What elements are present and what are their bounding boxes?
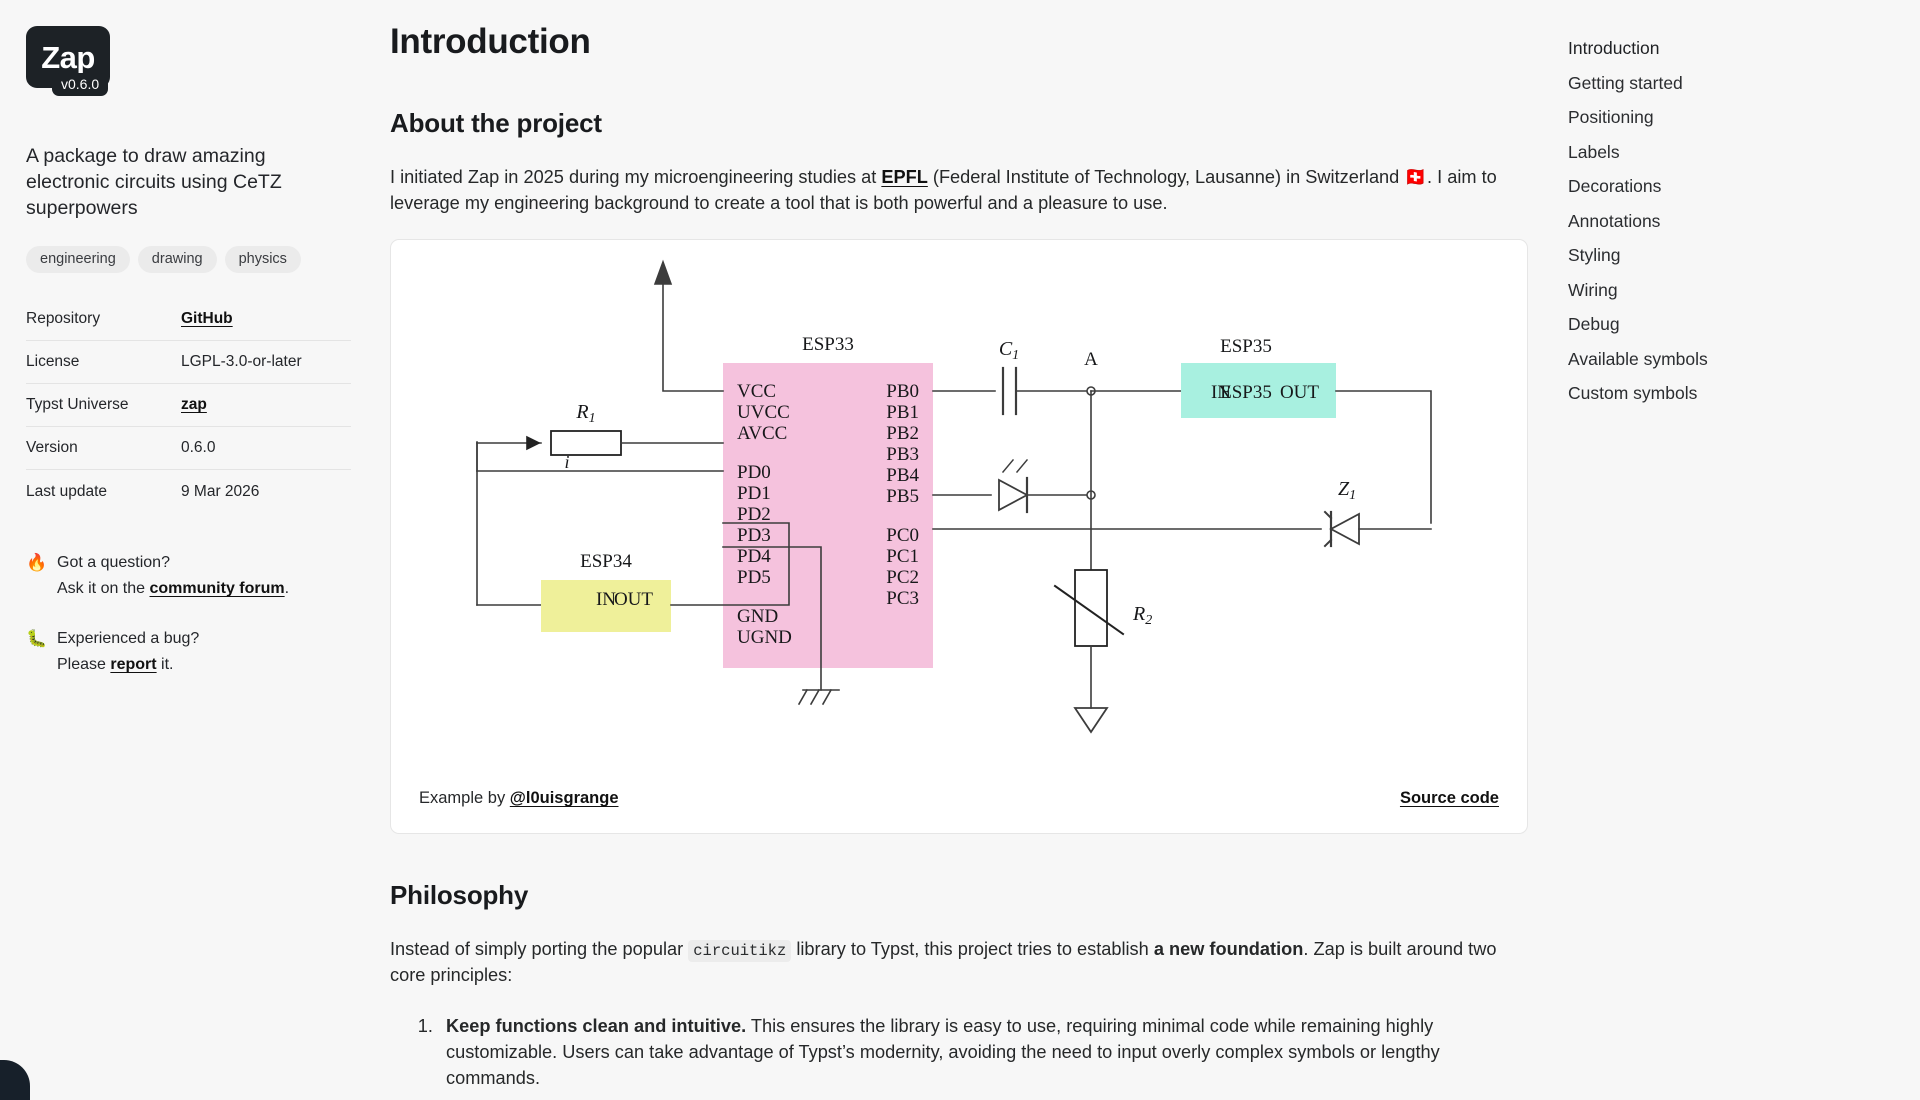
pin-gnd: GND — [737, 606, 778, 627]
table-row: Typst Universe zap — [26, 384, 351, 427]
tag-drawing[interactable]: drawing — [138, 246, 217, 274]
component-label-z1: Z1 — [1338, 478, 1356, 503]
node-label-a: A — [1084, 349, 1098, 370]
about-paragraph: I initiated Zap in 2025 during my microe… — [390, 165, 1525, 217]
page-root: Zap v0.6.0 A package to draw amazing ele… — [0, 0, 1920, 1100]
about-text-b: (Federal Institute of Technology, Lausan… — [928, 167, 1405, 187]
help-question: 🔥 Got a question? Ask it on the communit… — [26, 551, 360, 600]
help-bug-line: Please report it. — [57, 653, 199, 676]
epfl-link[interactable]: EPFL — [881, 167, 927, 187]
esp35-out-label: OUT — [1280, 382, 1319, 403]
component-label-c1: C1 — [999, 338, 1019, 363]
meta-key-last-update: Last update — [26, 483, 181, 501]
help-question-text: Got a question? Ask it on the community … — [57, 551, 289, 600]
table-row: Last update 9 Mar 2026 — [26, 470, 351, 513]
pin-avcc: AVCC — [737, 423, 787, 444]
bug-icon: 🐛 — [26, 627, 43, 676]
block-label-esp33: ESP33 — [802, 334, 854, 355]
toc-item-getting-started[interactable]: Getting started — [1568, 67, 1898, 102]
esp35-in-label: IN — [1211, 382, 1231, 403]
section-about: About the project I initiated Zap in 202… — [390, 108, 1540, 834]
help-pre: Ask it on the — [57, 580, 150, 597]
toc-item-custom-symbols[interactable]: Custom symbols — [1568, 377, 1898, 412]
pin-pd5: PD5 — [737, 567, 771, 588]
help-question-line: Ask it on the community forum. — [57, 577, 289, 600]
toc-item-annotations[interactable]: Annotations — [1568, 205, 1898, 240]
help-bug: 🐛 Experienced a bug? Please report it. — [26, 627, 360, 676]
principle-1-title: Keep functions clean and intuitive. — [446, 1016, 746, 1036]
current-label-i: i — [564, 452, 569, 472]
logo-text: Zap — [41, 42, 95, 73]
pin-pd0: PD0 — [737, 462, 771, 483]
meta-key-license: License — [26, 353, 181, 371]
table-row: License LGPL-3.0-or-later — [26, 341, 351, 384]
figure-footer: Example by @l0uisgrange Source code — [391, 771, 1527, 833]
toc-item-introduction[interactable]: Introduction — [1568, 32, 1898, 67]
pin-pd1: PD1 — [737, 483, 771, 504]
meta-key-typst-universe: Typst Universe — [26, 396, 181, 414]
figure-author-link[interactable]: @l0uisgrange — [510, 789, 619, 807]
help-block: 🔥 Got a question? Ask it on the communit… — [26, 551, 360, 676]
pin-uvcc: UVCC — [737, 402, 790, 423]
help-pre: Please — [57, 656, 110, 673]
pin-pb1: PB1 — [886, 402, 919, 423]
pin-pd3: PD3 — [737, 525, 771, 546]
report-bug-link[interactable]: report — [110, 656, 156, 673]
list-item: Keep functions clean and intuitive. This… — [438, 1014, 1528, 1092]
code-circuitikz: circuitikz — [688, 940, 791, 962]
pin-pc1: PC1 — [886, 546, 919, 567]
meta-value-typst-universe: zap — [181, 396, 207, 414]
tag-engineering[interactable]: engineering — [26, 246, 130, 274]
tag-list: engineering drawing physics — [26, 246, 360, 274]
help-bug-text: Experienced a bug? Please report it. — [57, 627, 199, 676]
main-content: Introduction About the project I initiat… — [390, 0, 1570, 1100]
circuit-figure-card: ESP33 IN OUT ESP34 ESP35 IN OUT ESP35 VC… — [390, 239, 1528, 834]
section-philosophy: Philosophy Instead of simply porting the… — [390, 880, 1540, 1092]
about-text-a: I initiated Zap in 2025 during my microe… — [390, 167, 881, 187]
logo[interactable]: Zap v0.6.0 — [26, 26, 112, 106]
toc-item-positioning[interactable]: Positioning — [1568, 101, 1898, 136]
swiss-flag-icon: 🇨🇭 — [1404, 167, 1427, 187]
esp35-title: ESP35 — [1220, 336, 1272, 357]
page-title: Introduction — [390, 22, 1540, 62]
toc-item-available-symbols[interactable]: Available symbols — [1568, 343, 1898, 378]
pin-pc2: PC2 — [886, 567, 919, 588]
meta-value-repository: GitHub — [181, 310, 233, 328]
phil-text-a: Instead of simply porting the popular — [390, 939, 688, 959]
phil-text-b: library to Typst, this project tries to … — [791, 939, 1154, 959]
community-forum-link[interactable]: community forum — [150, 580, 285, 597]
block-label-esp34: ESP34 — [580, 551, 632, 572]
version-badge: v0.6.0 — [52, 73, 108, 96]
figure-caption-pre: Example by — [419, 789, 510, 807]
table-row: Repository GitHub — [26, 298, 351, 341]
toc-item-styling[interactable]: Styling — [1568, 239, 1898, 274]
philosophy-paragraph: Instead of simply porting the popular ci… — [390, 937, 1525, 989]
tag-physics[interactable]: physics — [225, 246, 301, 274]
source-code-link[interactable]: Source code — [1400, 789, 1499, 808]
metadata-table: Repository GitHub License LGPL-3.0-or-la… — [26, 298, 351, 513]
phil-bold: a new foundation — [1154, 939, 1304, 959]
figure-caption: Example by @l0uisgrange — [419, 789, 619, 808]
sidebar-tagline: A package to draw amazing electronic cir… — [26, 144, 316, 222]
help-post: it. — [157, 656, 174, 673]
pin-ugnd: UGND — [737, 627, 792, 648]
pin-pb2: PB2 — [886, 423, 919, 444]
component-label-r1: R1 — [575, 401, 595, 426]
table-row: Version 0.6.0 — [26, 427, 351, 470]
toc-item-labels[interactable]: Labels — [1568, 136, 1898, 171]
principles-list: Keep functions clean and intuitive. This… — [390, 1014, 1540, 1092]
help-bug-title: Experienced a bug? — [57, 630, 199, 647]
toc-item-wiring[interactable]: Wiring — [1568, 274, 1898, 309]
about-heading: About the project — [390, 108, 1540, 139]
component-label-r2: R2 — [1132, 603, 1152, 628]
flame-icon: 🔥 — [26, 551, 43, 600]
sidebar: Zap v0.6.0 A package to draw amazing ele… — [0, 0, 390, 1100]
circuit-diagram: ESP33 IN OUT ESP34 ESP35 IN OUT ESP35 VC… — [391, 240, 1529, 770]
philosophy-heading: Philosophy — [390, 880, 1540, 911]
pin-pc3: PC3 — [886, 588, 919, 609]
table-of-contents: Introduction Getting started Positioning… — [1568, 32, 1898, 412]
meta-key-version: Version — [26, 439, 181, 457]
pin-pb0: PB0 — [886, 381, 919, 402]
pin-pb5: PB5 — [886, 486, 919, 507]
pin-vcc: VCC — [737, 381, 776, 402]
pin-pd2: PD2 — [737, 504, 771, 525]
toc-item-debug[interactable]: Debug — [1568, 308, 1898, 343]
pin-pd4: PD4 — [737, 546, 771, 567]
meta-value-license: LGPL-3.0-or-later — [181, 353, 302, 371]
toc-item-decorations[interactable]: Decorations — [1568, 170, 1898, 205]
esp34-out-label: OUT — [614, 589, 653, 610]
pin-pb3: PB3 — [886, 444, 919, 465]
pin-pb4: PB4 — [886, 465, 919, 486]
meta-value-version: 0.6.0 — [181, 439, 215, 457]
repository-link[interactable]: GitHub — [181, 310, 233, 327]
help-post: . — [285, 580, 289, 597]
pin-pc0: PC0 — [886, 525, 919, 546]
typst-universe-link[interactable]: zap — [181, 396, 207, 413]
meta-value-last-update: 9 Mar 2026 — [181, 483, 259, 501]
meta-key-repository: Repository — [26, 310, 181, 328]
help-question-title: Got a question? — [57, 554, 170, 571]
